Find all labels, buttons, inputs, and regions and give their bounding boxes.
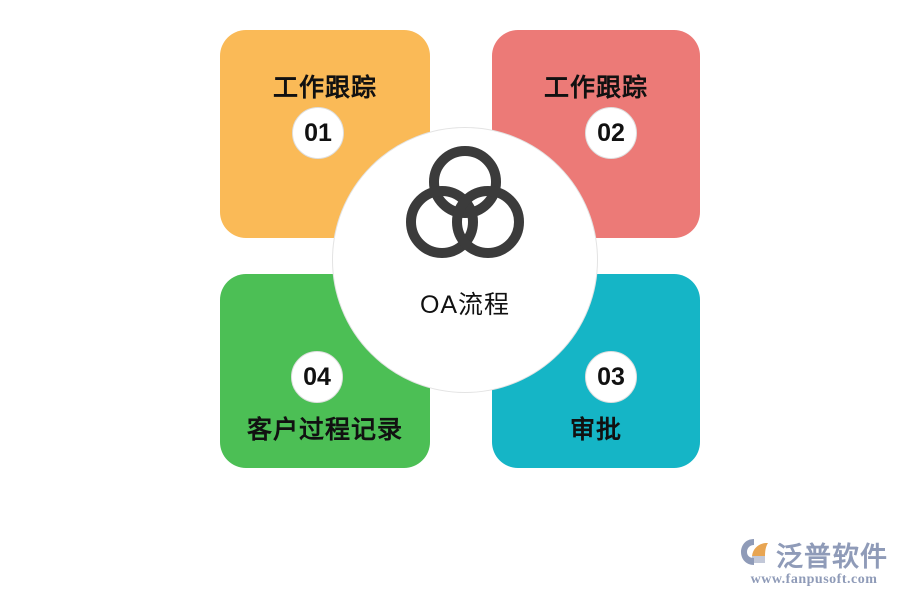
badge-number-01: 01: [292, 107, 344, 159]
watermark-name: 泛普软件: [776, 535, 888, 574]
center-label: OA流程: [420, 285, 510, 321]
fanpu-logo-icon: [740, 537, 772, 572]
card-title: 工作跟踪: [492, 68, 700, 104]
watermark-row: 泛普软件: [740, 535, 888, 574]
badge-number-02: 02: [585, 107, 637, 159]
infographic-canvas: 工作跟踪 工作跟踪 客户过程记录: [0, 0, 900, 600]
three-circles-venn-icon: [406, 146, 524, 263]
watermark-logo: 泛普软件 www.fanpusoft.com: [740, 535, 888, 588]
card-title: 审批: [492, 410, 700, 446]
watermark-url: www.fanpusoft.com: [751, 572, 878, 588]
card-title: 客户过程记录: [220, 410, 430, 446]
center-hub[interactable]: OA流程: [332, 127, 598, 393]
badge-number-03: 03: [585, 351, 637, 403]
card-title: 工作跟踪: [220, 68, 430, 104]
badge-number-04: 04: [291, 351, 343, 403]
